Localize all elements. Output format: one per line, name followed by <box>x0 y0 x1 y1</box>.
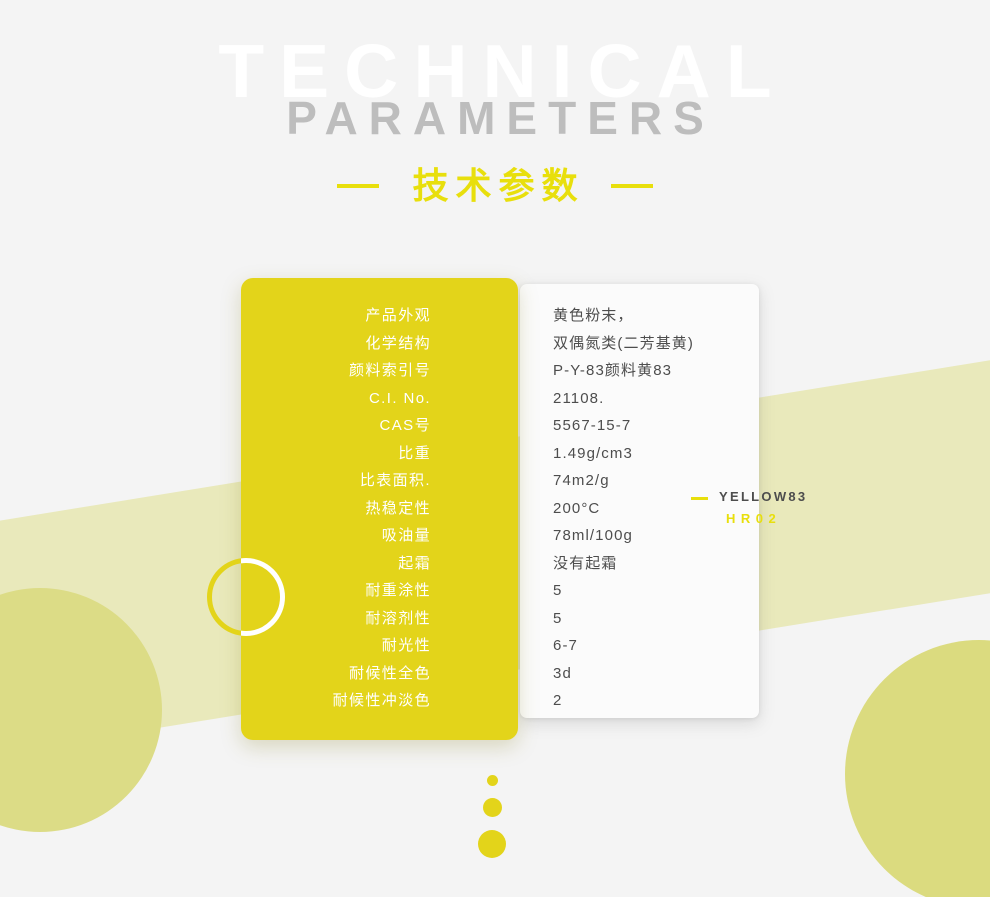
parameter-value: 21108. <box>553 385 783 413</box>
dot-small-icon <box>487 775 498 786</box>
parameter-value: 5 <box>553 577 783 605</box>
parameter-label: 热稳定性 <box>241 495 431 523</box>
parameter-label: 颜料索引号 <box>241 357 431 385</box>
decorative-dots <box>478 775 506 858</box>
dash-right-icon <box>611 184 653 188</box>
parameter-label: 吸油量 <box>241 522 431 550</box>
subtitle-chinese: 技术参数 <box>405 168 584 204</box>
parameter-label: 化学结构 <box>241 330 431 358</box>
parameter-value: 5 <box>553 605 783 633</box>
left-circle-shape <box>0 588 162 832</box>
parameter-label: 耐重涂性 <box>241 577 431 605</box>
dot-large-icon <box>478 830 506 858</box>
parameter-label: 起霜 <box>241 550 431 578</box>
parameter-value: 1.49g/cm3 <box>553 440 783 468</box>
parameter-label-column: 产品外观 化学结构 颜料索引号 C.I. No. CAS号 比重 比表面积. 热… <box>241 302 431 715</box>
parameter-label: 比表面积. <box>241 467 431 495</box>
dash-left-icon <box>337 184 379 188</box>
right-circle-shape <box>845 640 990 897</box>
parameter-value: 78ml/100g <box>553 522 783 550</box>
parameter-value: 2 <box>553 687 783 715</box>
parameter-value: 没有起霜 <box>553 550 783 578</box>
dot-medium-icon <box>483 798 502 817</box>
parameter-value: 黄色粉末， <box>553 302 783 330</box>
title-parameters: PARAMETERS <box>0 95 990 141</box>
parameter-label: 耐溶剂性 <box>241 605 431 633</box>
parameter-label: C.I. No. <box>241 385 431 413</box>
product-code-tag: YELLOW83 HR02 <box>691 489 807 525</box>
page-root: TECHNICAL PARAMETERS 技术参数 产品外观 化学结构 颜料索引… <box>0 0 990 897</box>
parameter-label: CAS号 <box>241 412 431 440</box>
parameter-label: 耐候性全色 <box>241 660 431 688</box>
tag-dash-icon <box>691 497 708 500</box>
parameter-value: 5567-15-7 <box>553 412 783 440</box>
parameter-label: 产品外观 <box>241 302 431 330</box>
parameter-value: P-Y-83颜料黄83 <box>553 357 783 385</box>
page-heading: TECHNICAL PARAMETERS 技术参数 <box>0 0 990 204</box>
product-code-name: YELLOW83 <box>719 489 807 504</box>
parameter-value: 6-7 <box>553 632 783 660</box>
subtitle-row: 技术参数 <box>0 168 990 204</box>
product-code-model: HR02 <box>719 512 807 525</box>
parameter-label: 比重 <box>241 440 431 468</box>
parameter-label: 耐候性冲淡色 <box>241 687 431 715</box>
parameter-value: 3d <box>553 660 783 688</box>
parameter-value: 双偶氮类(二芳基黄) <box>553 330 783 358</box>
parameter-label: 耐光性 <box>241 632 431 660</box>
